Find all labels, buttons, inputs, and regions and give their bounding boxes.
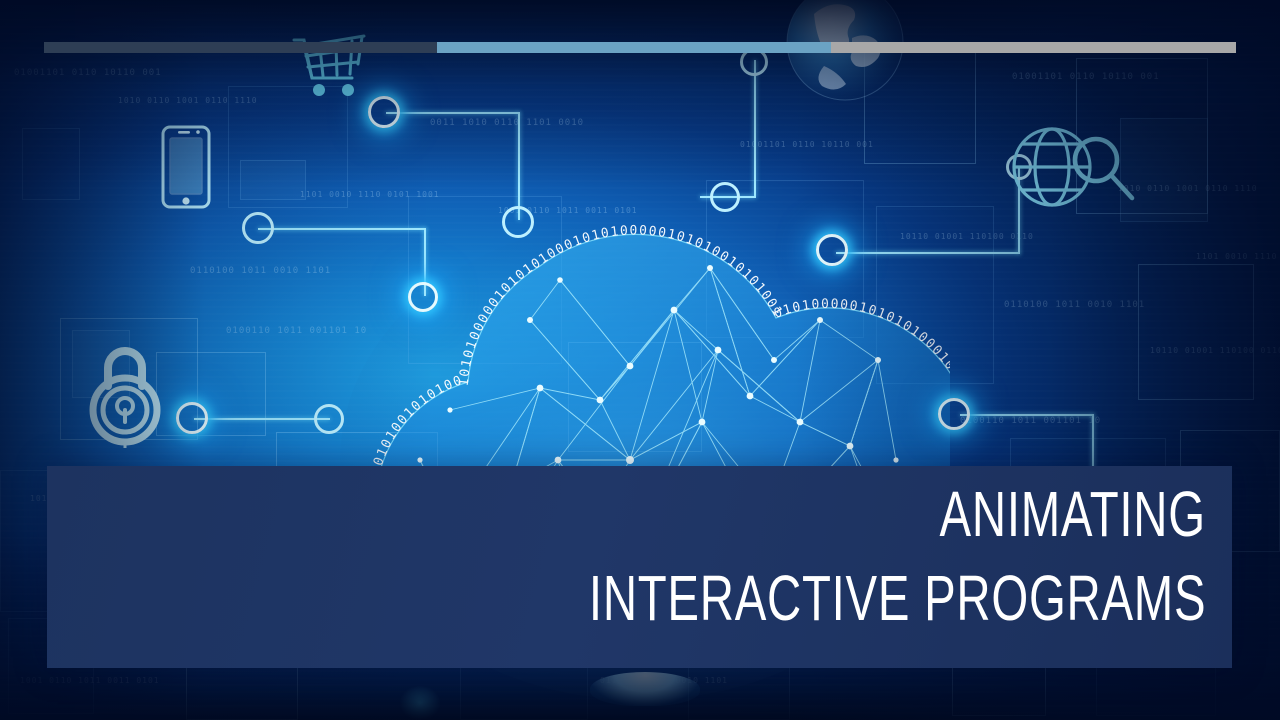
progress-buffered-segment[interactable] — [437, 42, 830, 53]
video-frame: 01001101 0110 10110 001 1010 0110 1001 0… — [0, 0, 1280, 720]
title-banner: ANIMATING INTERACTIVE PROGRAMS — [47, 466, 1232, 668]
title-line-1: ANIMATING — [940, 482, 1206, 546]
video-progress-bar[interactable] — [44, 42, 1236, 53]
title-line-2: INTERACTIVE PROGRAMS — [589, 566, 1206, 630]
progress-remaining-segment[interactable] — [831, 42, 1236, 53]
progress-played-segment[interactable] — [44, 42, 437, 53]
